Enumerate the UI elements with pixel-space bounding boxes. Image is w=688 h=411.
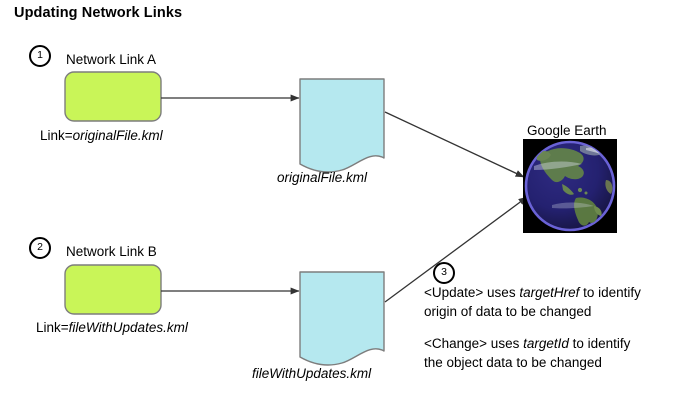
change-note-line1-b: to identify: [569, 336, 631, 351]
google-earth-label: Google Earth: [527, 122, 607, 140]
update-note-line1-a: <Update> uses: [424, 285, 519, 300]
document-updates-icon: [300, 272, 384, 365]
page-title: Updating Network Links: [14, 4, 182, 24]
network-link-a-title: Network Link A: [66, 51, 156, 69]
link-a-value: originalFile.kml: [73, 128, 163, 143]
step-number-1: 1: [29, 45, 51, 67]
network-link-a-href-label: Link=originalFile.kml: [40, 127, 163, 145]
network-link-b-box: [65, 265, 161, 314]
change-note-target-id: targetId: [523, 336, 569, 351]
change-note: <Change> uses targetId to identifythe ob…: [424, 334, 630, 372]
update-note: <Update> uses targetHref to identifyorig…: [424, 283, 641, 321]
change-note-line2: the object data to be changed: [424, 355, 602, 370]
link-b-prefix: Link=: [36, 320, 69, 335]
document-original-icon: [300, 79, 384, 172]
step-number-3: 3: [433, 262, 455, 284]
link-a-prefix: Link=: [40, 128, 73, 143]
update-note-target-href: targetHref: [519, 285, 579, 300]
network-link-b-href-label: Link=fileWithUpdates.kml: [36, 319, 188, 337]
arrow-document-original-to-globe: [385, 112, 524, 177]
document-original-label: originalFile.kml: [277, 169, 367, 187]
step-number-2: 2: [29, 237, 51, 259]
link-b-value: fileWithUpdates.kml: [69, 320, 188, 335]
change-note-line1-a: <Change> uses: [424, 336, 523, 351]
network-link-b-title: Network Link B: [66, 243, 157, 261]
globe-icon: [523, 139, 617, 233]
network-link-a-box: [65, 72, 161, 121]
update-note-line1-b: to identify: [579, 285, 641, 300]
update-note-line2: origin of data to be changed: [424, 304, 591, 319]
document-updates-label: fileWithUpdates.kml: [252, 365, 371, 383]
diagram-canvas: Updating Network Links 1 2 3 Network Lin…: [0, 0, 688, 411]
